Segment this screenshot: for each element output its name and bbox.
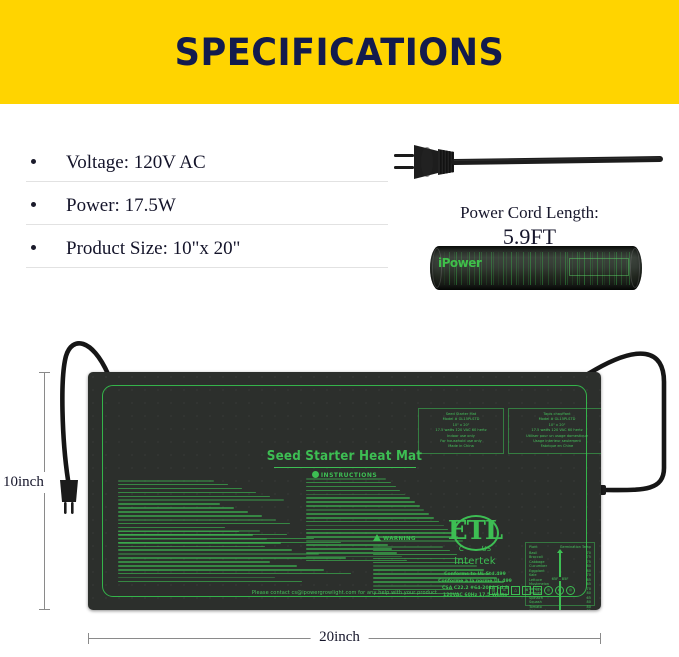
bullet-icon (31, 245, 36, 250)
heat-mat-body: Seed Starter Heat Mat INSTRUCTIONS WARNI… (88, 372, 601, 610)
bullet-icon (31, 202, 36, 207)
width-dimension-label: 20inch (310, 628, 369, 647)
germination-temperature-chart: Plant Germination Temp Basil70Broccoli75… (525, 542, 595, 606)
temp-chart-rows: Basil70Broccoli75Cabbage75Cucumber80Eggp… (529, 551, 591, 610)
info-box-english: Seed Starter MatModel # GL15PLSTD10" x 2… (418, 408, 504, 454)
rolled-mat-image: iPower (430, 246, 642, 290)
height-dimension-label: 10inch (2, 472, 45, 493)
mat-plug-icon (60, 480, 78, 514)
barcode-icon: ▥ (489, 586, 498, 595)
ce-icon: ◎ (544, 586, 553, 595)
no-iron-icon: ⊡ (533, 586, 542, 595)
info-icon (312, 471, 319, 478)
roll-edge-right (630, 248, 640, 288)
spec-product-size: Product Size: 10"x 20" (66, 238, 240, 260)
house-icon: ⌂ (500, 586, 509, 595)
warning-triangle-icon (373, 534, 381, 541)
list-item: Voltage: 120V AC (26, 152, 388, 182)
temp-header-left: Plant (529, 545, 538, 549)
care-symbols-row: ▥⌂△⊠⊡◎◉◎ (489, 586, 575, 595)
header-banner: SPECIFICATIONS (0, 0, 679, 104)
heat-mat-scene: Seed Starter Heat Mat INSTRUCTIONS WARNI… (0, 320, 679, 657)
two-prong-plug-icon (392, 136, 667, 198)
power-cord-caption: Power Cord Length: 5.9FT (392, 202, 667, 251)
spec-voltage: Voltage: 120V AC (66, 152, 206, 174)
warning-label: WARNING (383, 536, 416, 542)
list-item: Product Size: 10"x 20" (26, 238, 388, 268)
roll-label-box (569, 258, 629, 276)
rohs-icon: ◉ (555, 586, 564, 595)
specifications-list: Voltage: 120V AC Power: 17.5W Product Si… (26, 152, 388, 281)
temp-arrow-icon (559, 553, 560, 610)
info-box-french: Tapis chauffantModel # GL15PLSTD10" x 20… (508, 408, 601, 454)
temp-header-right: Germination Temp (560, 545, 591, 549)
mat-title-underline (274, 467, 416, 468)
page-title: SPECIFICATIONS (175, 34, 505, 71)
cord-length-label: Power Cord Length: (392, 202, 667, 223)
wheelie-bin-icon: ◎ (566, 586, 575, 595)
etl-ring-icon (453, 515, 499, 551)
roll-logo: iPower (438, 257, 481, 269)
intertek-brand: Intertek (421, 556, 529, 567)
warning-badge: WARNING (373, 534, 416, 542)
temp-range-label: 65F - 85F (551, 577, 570, 581)
mat-warning-text (118, 530, 363, 584)
recycle-icon: △ (511, 586, 520, 595)
no-bleach-icon: ⊠ (522, 586, 531, 595)
bullet-icon (31, 159, 36, 164)
spec-power: Power: 17.5W (66, 195, 176, 217)
list-item: Power: 17.5W (26, 195, 388, 225)
etl-mark: ETL (448, 518, 502, 544)
